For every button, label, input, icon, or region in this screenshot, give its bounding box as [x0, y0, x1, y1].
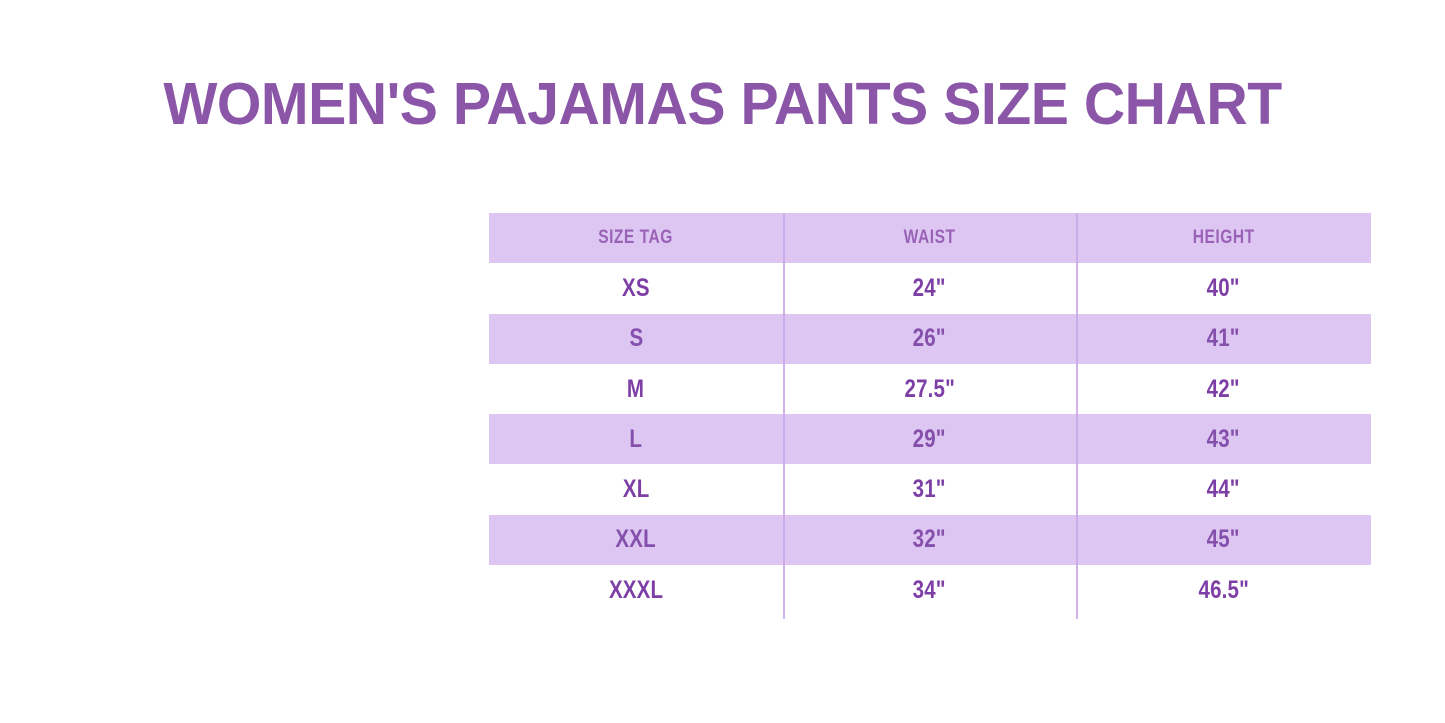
column-header-size-tag-label: SIZE TAG	[599, 227, 674, 249]
cell-waist-value: 31"	[913, 475, 946, 504]
size-chart-table-container: SIZE TAG WAIST HEIGHT XS 24" 40"	[489, 213, 1371, 619]
table-row: S 26" 41"	[489, 314, 1371, 364]
cell-height: 42"	[1076, 364, 1371, 414]
column-header-height: HEIGHT	[1076, 213, 1371, 263]
cell-height: 41"	[1076, 314, 1371, 364]
column-header-size-tag: SIZE TAG	[489, 213, 783, 263]
cell-waist-value: 24"	[913, 274, 946, 303]
size-chart-table: SIZE TAG WAIST HEIGHT XS 24" 40"	[489, 213, 1371, 615]
cell-waist: 26"	[783, 314, 1076, 364]
cell-size-tag-value: S	[629, 324, 643, 353]
table-row: L 29" 43"	[489, 414, 1371, 464]
cell-size-tag-value: XXL	[616, 525, 656, 554]
table-row: XL 31" 44"	[489, 464, 1371, 514]
cell-size-tag-value: XXXL	[609, 576, 663, 605]
cell-size-tag: XL	[489, 464, 783, 514]
cell-waist-value: 27.5"	[904, 375, 954, 404]
size-chart-page: WOMEN'S PAJAMAS PANTS SIZE CHART SIZE TA…	[0, 0, 1445, 723]
cell-waist: 31"	[783, 464, 1076, 514]
cell-height: 40"	[1076, 263, 1371, 313]
cell-height-value: 45"	[1207, 525, 1240, 554]
table-header-row: SIZE TAG WAIST HEIGHT	[489, 213, 1371, 263]
cell-waist-value: 32"	[913, 525, 946, 554]
cell-size-tag: XXXL	[489, 565, 783, 615]
column-header-height-label: HEIGHT	[1193, 227, 1255, 249]
table-row: M 27.5" 42"	[489, 364, 1371, 414]
page-title: WOMEN'S PAJAMAS PANTS SIZE CHART	[22, 68, 1424, 140]
cell-height-value: 41"	[1207, 324, 1240, 353]
cell-height-value: 44"	[1207, 475, 1240, 504]
table-row: XXXL 34" 46.5"	[489, 565, 1371, 615]
cell-waist: 34"	[783, 565, 1076, 615]
cell-height: 43"	[1076, 414, 1371, 464]
cell-waist-value: 29"	[913, 425, 946, 454]
column-header-waist: WAIST	[783, 213, 1076, 263]
cell-size-tag-value: M	[627, 375, 644, 404]
cell-size-tag-value: XS	[622, 274, 650, 303]
cell-waist-value: 34"	[913, 576, 946, 605]
table-row: XS 24" 40"	[489, 263, 1371, 313]
cell-size-tag: S	[489, 314, 783, 364]
cell-waist: 29"	[783, 414, 1076, 464]
column-header-waist-label: WAIST	[904, 227, 956, 249]
cell-height: 46.5"	[1076, 565, 1371, 615]
cell-waist: 32"	[783, 515, 1076, 565]
column-divider-left	[783, 213, 785, 619]
cell-height-value: 40"	[1207, 274, 1240, 303]
column-divider-right	[1076, 213, 1078, 619]
cell-size-tag-value: L	[630, 425, 643, 454]
cell-size-tag: M	[489, 364, 783, 414]
table-body: XS 24" 40" S 26" 41" M 27.5" 42" L 29"	[489, 263, 1371, 615]
cell-height: 45"	[1076, 515, 1371, 565]
cell-waist: 24"	[783, 263, 1076, 313]
cell-size-tag: XS	[489, 263, 783, 313]
table-header: SIZE TAG WAIST HEIGHT	[489, 213, 1371, 263]
cell-height-value: 42"	[1207, 375, 1240, 404]
cell-size-tag-value: XL	[623, 475, 650, 504]
cell-waist: 27.5"	[783, 364, 1076, 414]
cell-height-value: 43"	[1207, 425, 1240, 454]
cell-height-value: 46.5"	[1198, 576, 1248, 605]
cell-waist-value: 26"	[913, 324, 946, 353]
table-row: XXL 32" 45"	[489, 515, 1371, 565]
cell-height: 44"	[1076, 464, 1371, 514]
cell-size-tag: XXL	[489, 515, 783, 565]
cell-size-tag: L	[489, 414, 783, 464]
